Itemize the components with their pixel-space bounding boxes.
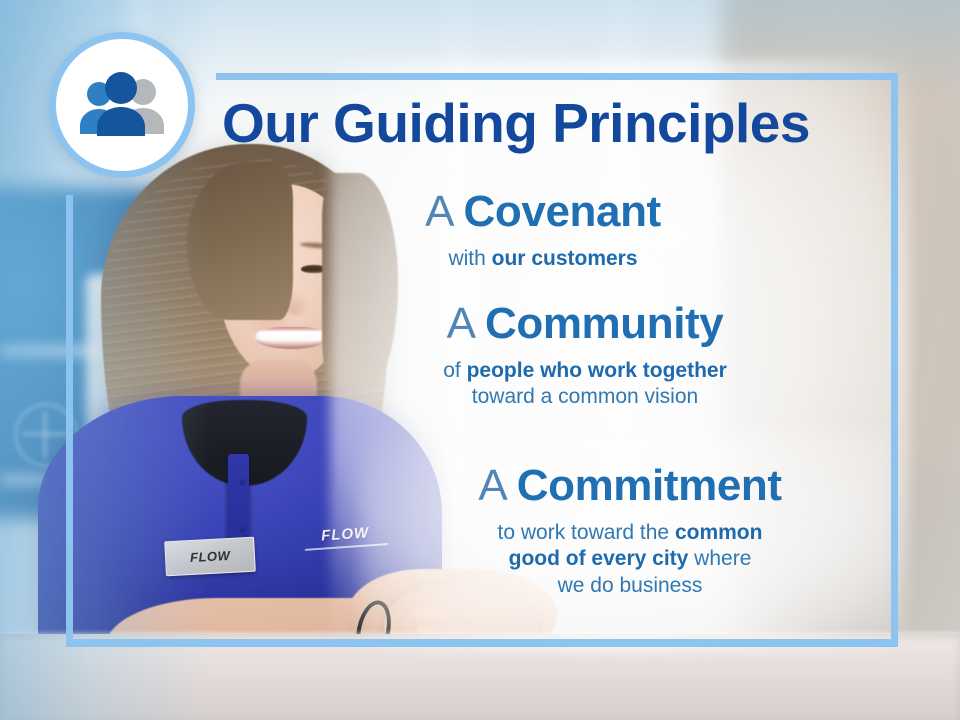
page-title: Our Guiding Principles <box>222 96 882 151</box>
sub-text-bold: common <box>675 521 763 544</box>
principle-community-subtitle: of people who work together toward a com… <box>285 358 885 412</box>
principle-community: A Community of people who work together … <box>285 300 885 411</box>
sub-text: to work toward the <box>498 521 675 544</box>
sub-text-bold: our customers <box>492 247 638 270</box>
employee-nametag: FLOW <box>164 536 256 576</box>
shirt-button <box>240 526 245 531</box>
nametag-brand-label: FLOW <box>190 549 231 564</box>
principle-article: A <box>425 187 463 236</box>
sub-text: where <box>688 547 751 570</box>
table-surface <box>0 634 960 720</box>
shirt-button <box>240 479 245 484</box>
principle-commitment: A Commitment to work toward the common g… <box>330 462 930 600</box>
principle-covenant-title: A Covenant <box>243 188 843 236</box>
principle-covenant-subtitle: with our customers <box>243 246 843 273</box>
principle-keyword: Community <box>485 299 723 348</box>
guiding-principles-poster: FLOW FLOW <box>0 0 960 720</box>
principle-commitment-subtitle: to work toward the common good of every … <box>330 520 930 601</box>
finger <box>413 605 519 620</box>
sub-line: good of every city where <box>330 546 930 573</box>
sub-text: of <box>443 359 466 382</box>
principle-article: A <box>447 299 485 348</box>
principle-commitment-title: A Commitment <box>330 462 930 510</box>
principle-keyword: Commitment <box>517 461 782 510</box>
sub-line: toward a common vision <box>285 384 885 411</box>
sub-line: we do business <box>330 573 930 600</box>
principle-article: A <box>478 461 516 510</box>
sub-line: of people who work together <box>285 358 885 385</box>
sub-text: with <box>448 247 491 270</box>
sub-text-bold: good of every city <box>509 547 689 570</box>
principle-community-title: A Community <box>285 300 885 348</box>
sub-line: to work toward the common <box>330 520 930 547</box>
sub-text-bold: people who work together <box>467 359 727 382</box>
principle-keyword: Covenant <box>464 187 661 236</box>
people-group-badge <box>49 32 195 178</box>
people-group-icon <box>74 72 170 138</box>
principle-covenant: A Covenant with our customers <box>243 188 843 272</box>
